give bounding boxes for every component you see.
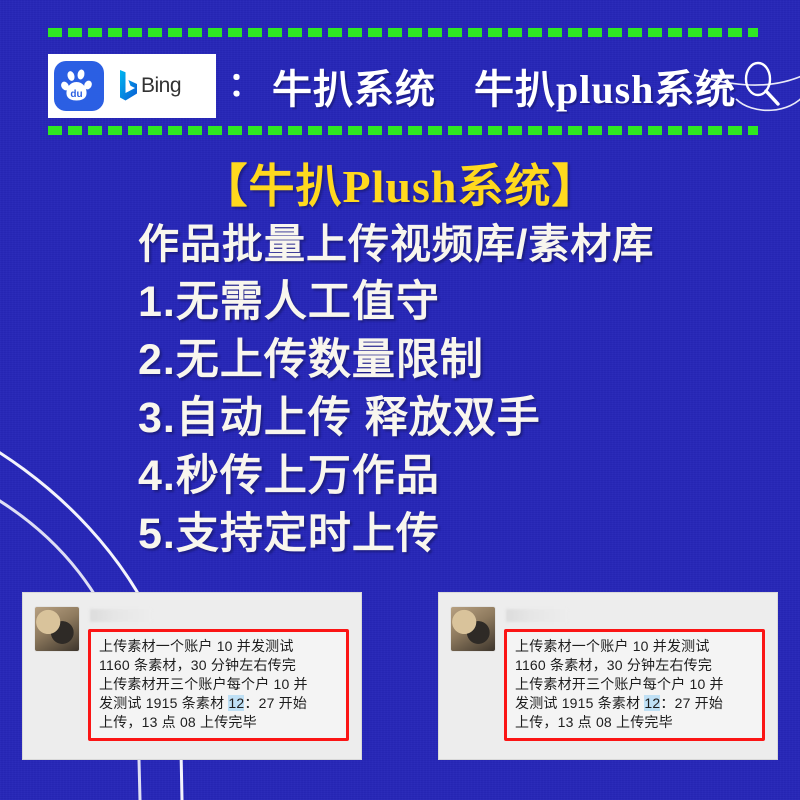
sender-name-redacted: [90, 609, 152, 622]
header: du Bing ： 牛扒系统 牛扒plush系统: [48, 48, 780, 124]
chat-column: 上传素材一个账户 10 并发测试 1160 条素材，30 分钟左右传完 上传素材…: [88, 607, 349, 749]
pet-avatar-icon: [451, 607, 495, 651]
message-line: 发测试 1915 条素材 12：27 开始: [515, 694, 755, 713]
feature-item-2: 2.无上传数量限制: [138, 331, 760, 389]
feature-list: 作品批量上传视频库/素材库 1.无需人工值守 2.无上传数量限制 3.自动上传 …: [138, 215, 760, 563]
divider-top: [48, 28, 758, 37]
feature-item-1: 1.无需人工值守: [138, 273, 760, 331]
bing-logo-label: Bing: [141, 74, 181, 98]
message-line: 上传，13 点 08 上传完毕: [515, 713, 755, 732]
header-separator: ：: [228, 69, 262, 103]
divider-bottom: [48, 126, 758, 135]
magnifier-glyph: [694, 49, 800, 125]
pet-avatar-icon: [35, 607, 79, 651]
baidu-logo[interactable]: du: [54, 61, 104, 111]
logo-group: du Bing: [48, 54, 216, 118]
bing-b-icon: [118, 69, 138, 103]
message-line: 1160 条素材，30 分钟左右传完: [99, 656, 339, 675]
message-line: 1160 条素材，30 分钟左右传完: [515, 656, 755, 675]
selection-highlight: 12: [644, 695, 660, 711]
bing-logo[interactable]: Bing: [118, 69, 181, 103]
page-title: 【牛扒Plush系统】: [0, 150, 800, 216]
message-line: 上传素材一个账户 10 并发测试: [515, 637, 755, 656]
chat-screenshot-right[interactable]: 上传素材一个账户 10 并发测试 1160 条素材，30 分钟左右传完 上传素材…: [438, 592, 778, 760]
sender-name-redacted: [506, 609, 568, 622]
message-line: 发测试 1915 条素材 12：27 开始: [99, 694, 339, 713]
screenshot-card-group: 上传素材一个账户 10 并发测试 1160 条素材，30 分钟左右传完 上传素材…: [0, 592, 800, 760]
baidu-logo-label: du: [70, 89, 82, 100]
message-line: 上传，13 点 08 上传完毕: [99, 713, 339, 732]
header-title-primary: 牛扒系统: [272, 57, 436, 115]
magnifier-icon[interactable]: [740, 51, 800, 121]
feature-headline: 作品批量上传视频库/素材库: [138, 215, 760, 273]
feature-item-3: 3.自动上传 释放双手: [138, 389, 760, 447]
message-line: 上传素材一个账户 10 并发测试: [99, 637, 339, 656]
selection-highlight: 12: [228, 695, 244, 711]
feature-item-5: 5.支持定时上传: [138, 505, 760, 563]
chat-bubble: 上传素材一个账户 10 并发测试 1160 条素材，30 分钟左右传完 上传素材…: [504, 629, 765, 741]
chat-screenshot-left[interactable]: 上传素材一个账户 10 并发测试 1160 条素材，30 分钟左右传完 上传素材…: [22, 592, 362, 760]
chat-column: 上传素材一个账户 10 并发测试 1160 条素材，30 分钟左右传完 上传素材…: [504, 607, 765, 749]
message-line: 上传素材开三个账户每个户 10 并: [515, 675, 755, 694]
message-line: 上传素材开三个账户每个户 10 并: [99, 675, 339, 694]
chat-bubble: 上传素材一个账户 10 并发测试 1160 条素材，30 分钟左右传完 上传素材…: [88, 629, 349, 741]
baidu-paw-icon: du: [60, 67, 98, 105]
feature-item-4: 4.秒传上万作品: [138, 447, 760, 505]
